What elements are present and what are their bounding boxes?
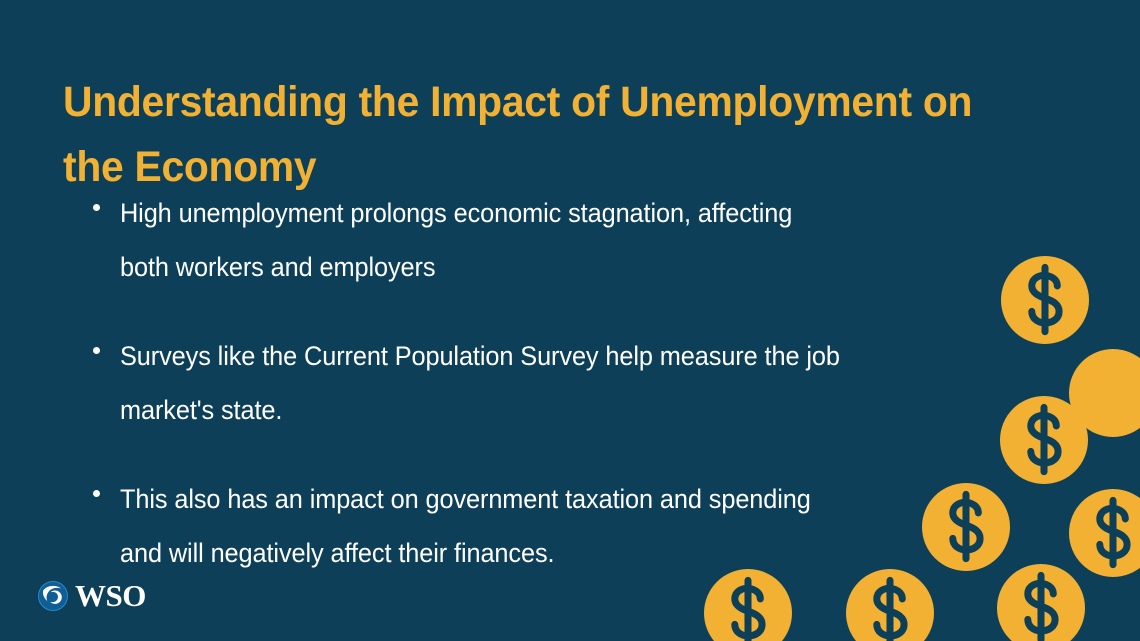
- bullet-marker-icon: [93, 347, 100, 354]
- wso-globe-icon: [38, 581, 68, 611]
- bullet-list-item: High unemployment prolongs economic stag…: [88, 186, 1048, 294]
- presentation-slide: Understanding the Impact of Unemployment…: [0, 0, 1140, 641]
- bullet-text: High unemployment prolongs economic stag…: [120, 186, 1006, 294]
- bullet-marker-icon: [93, 490, 100, 497]
- bullet-text: This also has an impact on government ta…: [120, 472, 1006, 580]
- wso-logo[interactable]: WSO: [38, 580, 146, 611]
- bullet-list-item: Surveys like the Current Population Surv…: [88, 329, 1048, 437]
- wso-logo-text: WSO: [75, 580, 146, 611]
- bullet-marker-icon: [93, 204, 100, 211]
- bullet-list: High unemployment prolongs economic stag…: [88, 186, 1048, 580]
- slide-content: Understanding the Impact of Unemployment…: [0, 0, 1140, 641]
- bullet-list-item: This also has an impact on government ta…: [88, 472, 1048, 580]
- page-title: Understanding the Impact of Unemployment…: [63, 70, 1013, 200]
- bullet-text: Surveys like the Current Population Surv…: [120, 329, 1006, 437]
